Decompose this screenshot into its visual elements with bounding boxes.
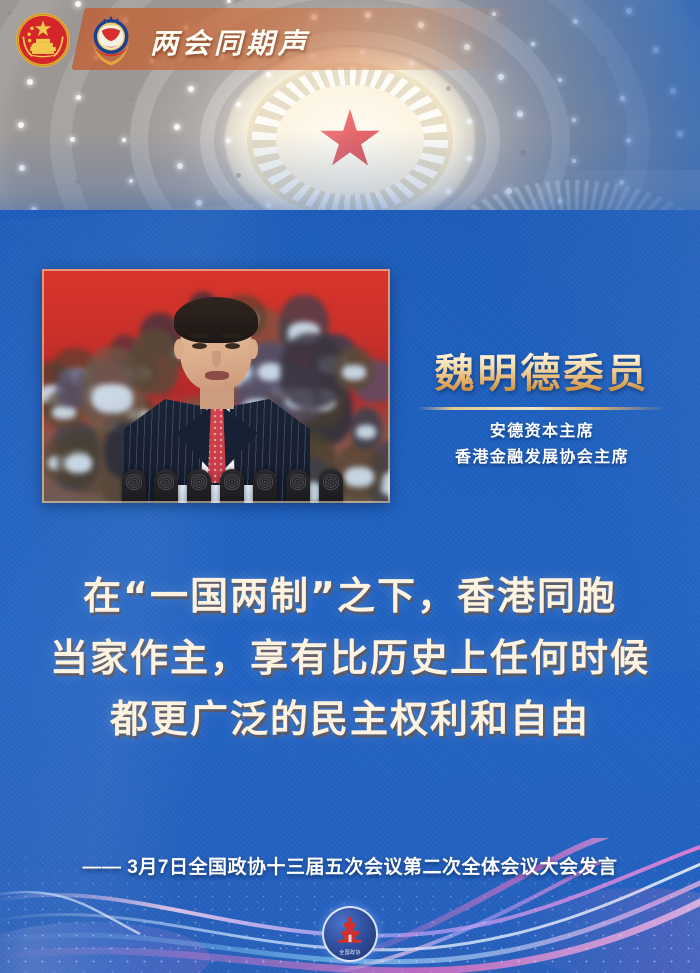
- speaker-eye-left: [192, 343, 207, 349]
- poster-root: 1949 两会同期声: [0, 0, 700, 973]
- microphone-icon: [187, 469, 211, 503]
- profile-divider: [417, 407, 667, 410]
- microphone-icon: [122, 469, 146, 503]
- speaker-eye-right: [225, 343, 240, 349]
- bottom-logo-label: 全国政协: [324, 949, 376, 956]
- header-bar: 1949 两会同期声: [0, 0, 700, 82]
- bottom-logo[interactable]: 全国政协: [322, 906, 378, 962]
- national-emblem-icon: [14, 11, 72, 69]
- profile-title-1: 安德资本主席: [404, 419, 680, 445]
- speaker-brow-left: [190, 333, 210, 338]
- cppcc-emblem-icon: 1949: [82, 11, 140, 69]
- quote-line-3: 都更广泛的民主权利和自由: [0, 689, 700, 751]
- microphone-icon: [286, 469, 310, 503]
- microphone-icon: [154, 469, 178, 503]
- speaker-ear-right: [248, 339, 258, 359]
- banner-title: 两会同期声: [150, 22, 310, 62]
- quote-block: 在“一国两制”之下，香港同胞 当家作主，享有比历史上任何时候 都更广泛的民主权利…: [0, 566, 700, 751]
- profile-block: 魏明德委员 安德资本主席 香港金融发展协会主席: [404, 352, 680, 472]
- podium-paper: [170, 485, 262, 503]
- cppcc-tower-icon: [335, 917, 365, 945]
- speaker-mouth: [205, 371, 229, 380]
- microphone-icon: [319, 469, 343, 503]
- speaker-nose: [212, 351, 221, 367]
- quote-line-2: 当家作主，享有比历史上任何时候: [0, 628, 700, 690]
- speaker-brow-right: [222, 333, 242, 338]
- microphone-icon: [253, 469, 277, 503]
- speaker-photo: [42, 269, 390, 503]
- profile-title-2: 香港金融发展协会主席: [404, 445, 680, 471]
- microphone-icon: [220, 469, 244, 503]
- microphone-cluster: [42, 455, 390, 503]
- svg-text:1949: 1949: [105, 22, 117, 28]
- quote-line-1: 在“一国两制”之下，香港同胞: [0, 566, 700, 628]
- source-caption: —— 3月7日全国政协十三届五次会议第二次全体会议大会发言: [0, 852, 700, 879]
- speaker-ear-left: [174, 339, 184, 359]
- speaker-hair: [174, 297, 258, 343]
- profile-name: 魏明德委员: [404, 352, 680, 397]
